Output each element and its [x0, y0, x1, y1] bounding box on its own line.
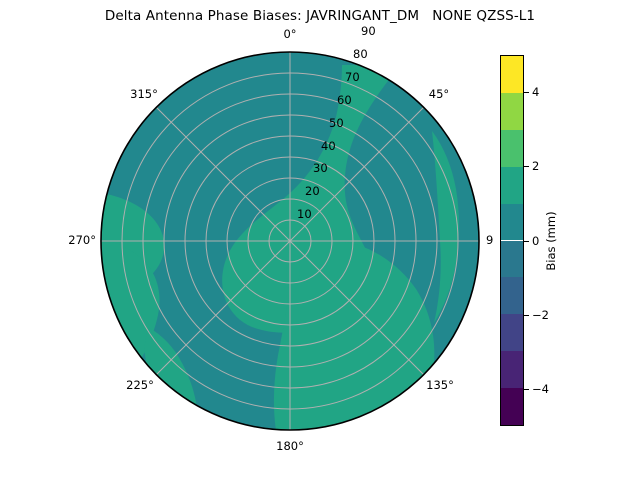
colorbar-tick-mark-0 — [524, 241, 529, 242]
radial-tick-50: 50 — [329, 116, 344, 130]
colorbar-band-8 — [501, 351, 523, 388]
radial-tick-20: 20 — [305, 184, 320, 198]
angular-tick-0: 0° — [270, 27, 310, 41]
colorbar[interactable]: 4 2 0 −2 −4 — [500, 55, 524, 426]
angular-tick-135: 135° — [412, 378, 468, 392]
page-title: Delta Antenna Phase Biases: JAVRINGANT_D… — [0, 8, 640, 24]
radial-tick-40: 40 — [321, 139, 336, 153]
colorbar-tick-mark-2 — [524, 166, 529, 167]
colorbar-tick-label-minus2: −2 — [532, 308, 549, 322]
polar-plot[interactable]: 0° 45° 90° 135° 180° 225° 270° 315° 10 2… — [100, 51, 480, 431]
colorbar-tick-label-0: 0 — [532, 234, 539, 248]
radial-tick-10: 10 — [297, 207, 312, 221]
radial-tick-30: 30 — [313, 161, 328, 175]
colorbar-band-0 — [501, 56, 523, 93]
colorbar-band-6 — [501, 277, 523, 314]
angular-gridlines — [101, 52, 479, 430]
colorbar-band-2 — [501, 130, 523, 167]
colorbar-band-9 — [501, 388, 523, 425]
colorbar-tick-label-4: 4 — [532, 85, 539, 99]
angular-tick-180: 180° — [262, 439, 318, 453]
colorbar-axis-label: Bias (mm) — [544, 211, 558, 270]
radial-tick-60: 60 — [337, 93, 352, 107]
colorbar-band-7 — [501, 314, 523, 351]
angular-tick-270: 270° — [40, 233, 96, 247]
colorbar-gradient — [500, 55, 524, 426]
colorbar-band-4 — [501, 204, 523, 241]
angular-tick-225: 225° — [112, 378, 168, 392]
colorbar-band-5 — [501, 241, 523, 278]
figure-canvas: Delta Antenna Phase Biases: JAVRINGANT_D… — [0, 0, 640, 480]
colorbar-band-1 — [501, 93, 523, 130]
radial-tick-70: 70 — [345, 70, 360, 84]
colorbar-tick-label-minus4: −4 — [532, 382, 549, 396]
skyplot-svg — [100, 51, 480, 431]
colorbar-tick-label-2: 2 — [532, 159, 539, 173]
radial-tick-80: 80 — [353, 47, 368, 61]
colorbar-band-3 — [501, 167, 523, 204]
angular-tick-315: 315° — [116, 87, 172, 101]
colorbar-tick-mark-m4 — [524, 389, 529, 390]
angular-tick-45: 45° — [416, 87, 462, 101]
radial-tick-90: 90 — [361, 24, 376, 38]
colorbar-tick-mark-4 — [524, 92, 529, 93]
colorbar-tick-mark-m2 — [524, 315, 529, 316]
